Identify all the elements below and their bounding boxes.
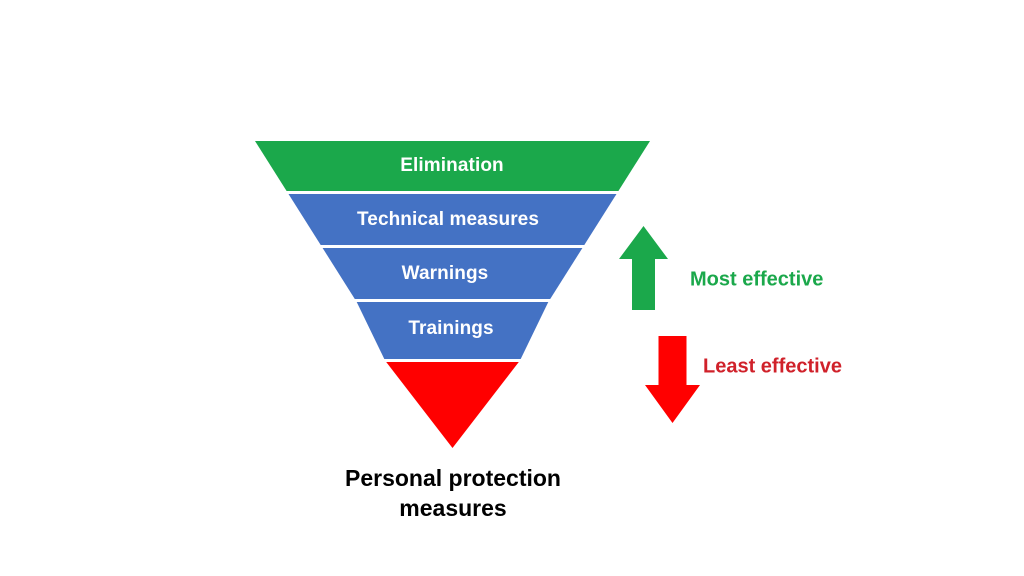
- legend-most-effective-label: Most effective: [690, 269, 823, 292]
- funnel-tier-5-shape[interactable]: [386, 362, 519, 448]
- funnel-tier-4-shape[interactable]: [357, 302, 549, 359]
- down-arrow-icon: [645, 336, 700, 423]
- diagram-canvas: Elimination Technical measures Warnings …: [0, 0, 1024, 576]
- funnel-bottom-caption: Personal protection measures: [273, 463, 633, 524]
- up-arrow-icon: [619, 226, 668, 310]
- legend-least-effective-label: Least effective: [703, 356, 842, 379]
- caption-line-1: Personal protection: [273, 463, 633, 493]
- funnel-tier-1-shape[interactable]: [255, 141, 650, 191]
- caption-line-2: measures: [273, 493, 633, 523]
- funnel-tier-2-shape[interactable]: [289, 194, 617, 245]
- funnel-tier-3-shape[interactable]: [323, 248, 583, 299]
